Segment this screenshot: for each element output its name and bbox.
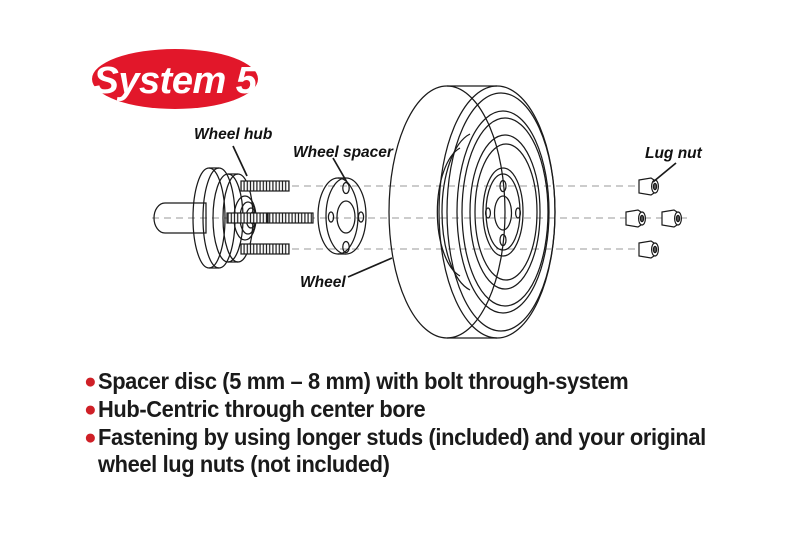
list-item: ● Spacer disc (5 mm – 8 mm) with bolt th… — [84, 368, 784, 395]
spacer-bolt-hole-left — [328, 212, 333, 222]
wheel-inner-barrel-rear2 — [442, 134, 470, 290]
wheel-center-bore — [495, 196, 512, 230]
label-wheel-spacer: Wheel spacer — [293, 144, 394, 161]
list-item: ● Fastening by using longer studs (inclu… — [84, 424, 784, 478]
bullet-dot-icon: ● — [84, 425, 98, 451]
wheel-hub-face-inner — [486, 174, 520, 250]
leader-wheel-spacer — [333, 158, 348, 184]
spacer-center-bore — [337, 201, 355, 233]
spacer-bolt-hole-top — [343, 183, 349, 194]
stud-upper — [241, 181, 289, 191]
lug-nuts — [626, 178, 681, 258]
label-wheel-hub: Wheel hub — [194, 126, 273, 143]
bullet-dot-icon: ● — [84, 369, 98, 395]
diagram-page: Wheel hub Wheel spacer Wheel Lug nut Sys… — [0, 0, 800, 533]
stud-lower — [241, 244, 289, 254]
bullet-dot-icon: ● — [84, 397, 98, 423]
label-lug-nut: Lug nut — [645, 145, 703, 162]
stud-center-left — [227, 213, 267, 223]
wheel-spacer-part — [318, 178, 366, 254]
spacer-rear-face — [318, 178, 358, 254]
bullet-text: Spacer disc (5 mm – 8 mm) with bolt thro… — [98, 368, 628, 395]
wheel-dish-outer — [475, 144, 537, 280]
spacer-bolt-hole-right — [358, 212, 363, 222]
leader-lug-nut — [653, 163, 676, 182]
bullet-text: Fastening by using longer studs (include… — [98, 424, 706, 478]
leader-wheel — [348, 258, 392, 277]
system-badge: System 5 — [92, 49, 258, 109]
wheel-rim-lip-outer — [457, 111, 549, 313]
lug-nut-bottom — [639, 241, 658, 258]
wheel-tire-front-inner — [447, 93, 555, 331]
system-badge-label: System 5 — [94, 60, 258, 102]
lug-nut-middle-left — [626, 210, 645, 227]
bullet-text: Hub-Centric through center bore — [98, 396, 425, 423]
list-item: ● Hub-Centric through center bore — [84, 396, 784, 423]
stud-center-right — [268, 213, 313, 223]
leader-wheel-hub — [233, 146, 247, 176]
feature-bullet-list: ● Spacer disc (5 mm – 8 mm) with bolt th… — [84, 368, 784, 479]
lug-nut-middle-right — [662, 210, 681, 227]
hub-backplate — [193, 168, 225, 268]
leader-lines — [233, 146, 676, 277]
label-wheel: Wheel — [300, 274, 346, 291]
spacer-front-face — [326, 178, 366, 254]
wheel-part — [389, 86, 555, 338]
